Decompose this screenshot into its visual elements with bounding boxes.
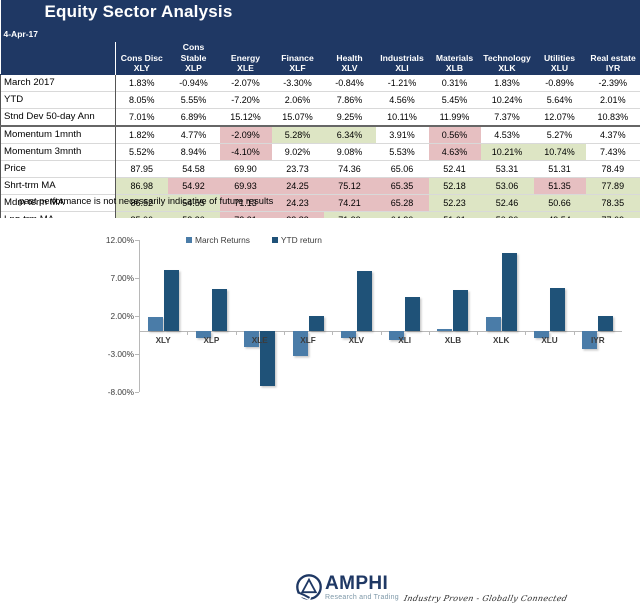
table-row: Shrt-trm MA86.9854.9269.9324.2575.1265.3… — [1, 177, 640, 194]
sector-ticker: IYR — [588, 63, 639, 74]
cell-xli: 65.06 — [376, 160, 429, 177]
y-axis-tick-mark — [135, 392, 139, 393]
row-label: Price — [1, 160, 116, 177]
x-axis-tick-mark — [429, 331, 430, 335]
cell-xlk: 4.53% — [481, 126, 534, 144]
column-header-xlu: Utilities XLU — [534, 42, 586, 74]
cell-xlf: 24.23 — [272, 194, 324, 211]
table-row: Momentum 3mnth5.52%8.94%-4.10%9.02%9.08%… — [1, 143, 640, 160]
cell-xli: 10.11% — [376, 108, 429, 126]
x-axis-tick-mark — [187, 331, 188, 335]
cell-xli: 65.35 — [376, 177, 429, 194]
cell-xle: 69.93 — [220, 177, 272, 194]
report-date: 4-Apr-17 — [1, 29, 38, 39]
y-axis-tick-mark — [135, 278, 139, 279]
cell-xlv: 75.12 — [324, 177, 376, 194]
cell-xlb: 4.63% — [429, 143, 481, 160]
cell-iyr: 78.35 — [586, 194, 640, 211]
cell-xlu: 10.74% — [534, 143, 586, 160]
title-row: Equity Sector Analysis — [1, 0, 640, 24]
cell-xli: 5.53% — [376, 143, 429, 160]
cell-xli: 65.28 — [376, 194, 429, 211]
sector-ticker: XLP — [170, 63, 218, 74]
sector-name: Health — [336, 53, 362, 63]
cell-xlu: 51.35 — [534, 177, 586, 194]
x-axis-label-iyr: IYR — [574, 336, 622, 345]
sector-ticker: XLK — [483, 63, 532, 74]
cell-xlv: 74.21 — [324, 194, 376, 211]
cell-xlb: 5.45% — [429, 91, 481, 108]
cell-xlb: 0.31% — [429, 74, 481, 91]
column-header-row: Cons Disc XLY Cons Stable XLP Energy XLE… — [1, 42, 640, 74]
amphi-subtitle: Research and Trading — [325, 593, 399, 602]
cell-xlb: 52.18 — [429, 177, 481, 194]
cell-xle: -4.10% — [220, 143, 272, 160]
x-axis-label-xlu: XLU — [525, 336, 573, 345]
bar-xlv-ytd[interactable] — [357, 271, 372, 331]
cell-xlp: 54.58 — [168, 160, 220, 177]
y-axis-tick-label: 7.00% — [110, 273, 134, 283]
sector-name: Industrials — [380, 53, 423, 63]
cell-xlp: -0.94% — [168, 74, 220, 91]
x-axis-tick-mark — [525, 331, 526, 335]
cell-xlu: -0.89% — [534, 74, 586, 91]
cell-iyr: -2.39% — [586, 74, 640, 91]
cell-xle: -7.20% — [220, 91, 272, 108]
bar-iyr-ytd[interactable] — [598, 316, 613, 331]
sector-ticker: XLV — [326, 63, 374, 74]
row-label: March 2017 — [1, 74, 116, 91]
column-header-xlp: Cons Stable XLP — [168, 42, 220, 74]
cell-xlu: 5.64% — [534, 91, 586, 108]
sector-ticker: XLE — [222, 63, 270, 74]
x-axis-tick-mark — [574, 331, 575, 335]
table-row: Price87.9554.5869.9023.7374.3665.0652.41… — [1, 160, 640, 177]
cell-xle: -2.07% — [220, 74, 272, 91]
cell-xlp: 8.94% — [168, 143, 220, 160]
cell-xle: 15.12% — [220, 108, 272, 126]
returns-bar-chart: March Returns YTD return 12.00%7.00%2.00… — [0, 218, 640, 418]
cell-iyr: 7.43% — [586, 143, 640, 160]
cell-iyr: 4.37% — [586, 126, 640, 144]
table-row: March 20171.83%-0.94%-2.07%-3.30%-0.84%-… — [1, 74, 640, 91]
bar-xlp-ytd[interactable] — [212, 289, 227, 331]
sector-ticker: XLI — [378, 63, 427, 74]
table-row: Stnd Dev 50-day Ann7.01%6.89%15.12%15.07… — [1, 108, 640, 126]
sector-name: Real estate — [590, 53, 635, 63]
x-axis-label-xly: XLY — [139, 336, 187, 345]
cell-xlk: 53.06 — [481, 177, 534, 194]
cell-iyr: 77.89 — [586, 177, 640, 194]
cell-xle: 69.90 — [220, 160, 272, 177]
disclaimer-text: past performance is not necessarily indi… — [19, 196, 273, 206]
sector-name: Energy — [231, 53, 260, 63]
sector-ticker: XLU — [536, 63, 584, 74]
cell-xlu: 50.66 — [534, 194, 586, 211]
date-row: 4-Apr-17 — [1, 24, 640, 42]
bar-xli-ytd[interactable] — [405, 297, 420, 332]
table-row: Momentum 1mnth1.82%4.77%-2.09%5.28%6.34%… — [1, 126, 640, 144]
cell-xlk: 1.83% — [481, 74, 534, 91]
x-axis-label-xlf: XLF — [284, 336, 332, 345]
cell-xlk: 10.24% — [481, 91, 534, 108]
cell-xli: -1.21% — [376, 74, 429, 91]
bar-xlb-march[interactable] — [437, 329, 452, 331]
column-header-blank — [1, 42, 116, 74]
x-axis-tick-mark — [477, 331, 478, 335]
bar-xlb-ytd[interactable] — [453, 290, 468, 331]
cell-xlk: 7.37% — [481, 108, 534, 126]
row-label: Momentum 1mnth — [1, 126, 116, 144]
bar-xly-ytd[interactable] — [164, 270, 179, 331]
sector-name: Materials — [436, 53, 473, 63]
y-axis-tick-mark — [135, 354, 139, 355]
sector-name: Cons Disc — [121, 53, 163, 63]
cell-xlv: 9.08% — [324, 143, 376, 160]
column-header-xlk: Technology XLK — [481, 42, 534, 74]
cell-xlf: 24.25 — [272, 177, 324, 194]
cell-xle: -2.09% — [220, 126, 272, 144]
column-header-iyr: Real estate IYR — [586, 42, 640, 74]
cell-xlb: 52.41 — [429, 160, 481, 177]
cell-xly: 1.83% — [116, 74, 168, 91]
cell-xlb: 11.99% — [429, 108, 481, 126]
amphi-tagline: Industry Proven - Globally Connected — [403, 594, 568, 603]
amphi-logo-text: AMPHI Research and Trading — [325, 574, 399, 602]
row-label: Stnd Dev 50-day Ann — [1, 108, 116, 126]
cell-xly: 5.52% — [116, 143, 168, 160]
x-axis-label-xlp: XLP — [187, 336, 235, 345]
cell-xlk: 52.46 — [481, 194, 534, 211]
cell-iyr: 10.83% — [586, 108, 640, 126]
column-header-xlv: Health XLV — [324, 42, 376, 74]
x-axis-tick-mark — [381, 331, 382, 335]
cell-xli: 4.56% — [376, 91, 429, 108]
x-axis-label-xlk: XLK — [477, 336, 525, 345]
x-axis-label-xlv: XLV — [332, 336, 380, 345]
y-axis-tick-label: 2.00% — [110, 311, 134, 321]
cell-xlv: 6.34% — [324, 126, 376, 144]
column-header-xlf: Finance XLF — [272, 42, 324, 74]
cell-xly: 86.98 — [116, 177, 168, 194]
sector-name: Utilities — [544, 53, 575, 63]
x-axis-tick-mark — [236, 331, 237, 335]
sector-ticker: XLY — [118, 63, 166, 74]
cell-xlu: 51.31 — [534, 160, 586, 177]
amphi-logo-mark — [296, 574, 322, 600]
cell-xlk: 10.21% — [481, 143, 534, 160]
x-axis-tick-mark — [284, 331, 285, 335]
sector-name: Finance — [281, 53, 313, 63]
x-axis-label-xlb: XLB — [429, 336, 477, 345]
cell-xlp: 4.77% — [168, 126, 220, 144]
cell-iyr: 78.49 — [586, 160, 640, 177]
bar-xlf-ytd[interactable] — [309, 316, 324, 332]
bar-xlu-ytd[interactable] — [550, 288, 565, 331]
page-title: Equity Sector Analysis — [1, 2, 233, 21]
cell-xlf: 5.28% — [272, 126, 324, 144]
bar-xlk-ytd[interactable] — [502, 253, 517, 331]
cell-xlb: 52.23 — [429, 194, 481, 211]
chart-plot-area: 12.00%7.00%2.00%-3.00%-8.00%XLYXLPXLEXLF… — [139, 240, 622, 392]
row-label: YTD — [1, 91, 116, 108]
row-label: Shrt-trm MA — [1, 177, 116, 194]
cell-xlu: 5.27% — [534, 126, 586, 144]
bar-xlk-march[interactable] — [486, 317, 501, 331]
cell-xlf: -3.30% — [272, 74, 324, 91]
cell-xlp: 54.92 — [168, 177, 220, 194]
cell-xlf: 9.02% — [272, 143, 324, 160]
cell-xlp: 6.89% — [168, 108, 220, 126]
cell-xli: 3.91% — [376, 126, 429, 144]
sector-ticker: XLF — [274, 63, 322, 74]
cell-xlv: 7.86% — [324, 91, 376, 108]
cell-xly: 87.95 — [116, 160, 168, 177]
cell-xlu: 12.07% — [534, 108, 586, 126]
cell-xlf: 15.07% — [272, 108, 324, 126]
row-label: Momentum 3mnth — [1, 143, 116, 160]
cell-xlv: 74.36 — [324, 160, 376, 177]
cell-xlb: 0.56% — [429, 126, 481, 144]
y-axis-tick-label: 12.00% — [106, 235, 134, 245]
column-header-xly: Cons Disc XLY — [116, 42, 168, 74]
cell-iyr: 2.01% — [586, 91, 640, 108]
bar-xly-march[interactable] — [148, 317, 163, 331]
amphi-wordmark: AMPHI — [325, 574, 399, 593]
x-axis-tick-mark — [332, 331, 333, 335]
cell-xlv: -0.84% — [324, 74, 376, 91]
cell-xly: 8.05% — [116, 91, 168, 108]
cell-xlk: 53.31 — [481, 160, 534, 177]
y-axis-tick-label: -8.00% — [108, 387, 134, 397]
table-row: YTD8.05%5.55%-7.20%2.06%7.86%4.56%5.45%1… — [1, 91, 640, 108]
column-header-xlb: Materials XLB — [429, 42, 481, 74]
cell-xlf: 23.73 — [272, 160, 324, 177]
cell-xlv: 9.25% — [324, 108, 376, 126]
sector-name: Cons Stable — [181, 42, 207, 63]
sector-ticker: XLB — [431, 63, 479, 74]
y-axis-tick-mark — [135, 316, 139, 317]
cell-xlf: 2.06% — [272, 91, 324, 108]
sector-name: Technology — [483, 53, 531, 63]
cell-xly: 7.01% — [116, 108, 168, 126]
cell-xlp: 5.55% — [168, 91, 220, 108]
amphi-logo: AMPHI Research and Trading — [296, 574, 399, 602]
y-axis-tick-mark — [135, 240, 139, 241]
column-header-xli: Industrials XLI — [376, 42, 429, 74]
cell-xly: 1.82% — [116, 126, 168, 144]
y-axis-tick-label: -3.00% — [108, 349, 134, 359]
x-axis-label-xli: XLI — [381, 336, 429, 345]
x-axis-label-xle: XLE — [236, 336, 284, 345]
column-header-xle: Energy XLE — [220, 42, 272, 74]
x-axis-tick-mark — [139, 331, 140, 335]
